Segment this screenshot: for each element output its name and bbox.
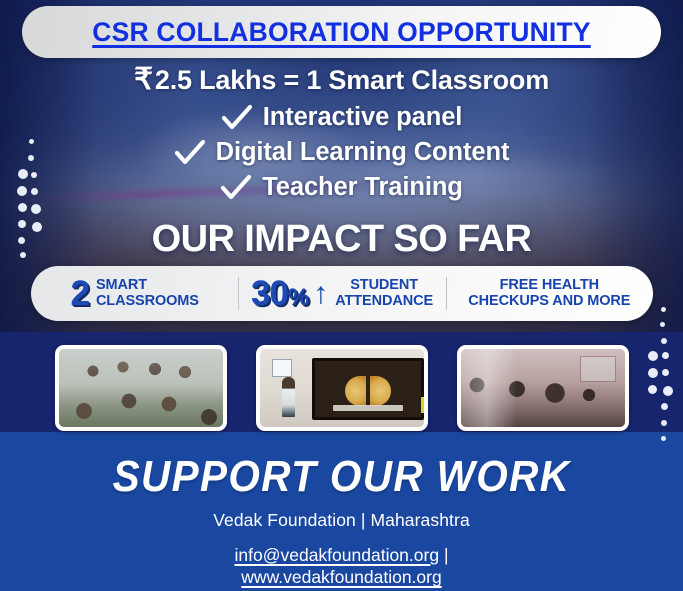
stat-label-line1: FREE HEALTH bbox=[500, 277, 599, 293]
offer-headline-text: 2.5 Lakhs = 1 Smart Classroom bbox=[155, 65, 549, 95]
offer-headline: ₹2.5 Lakhs = 1 Smart Classroom bbox=[0, 62, 683, 97]
photo-smart-board-lesson bbox=[256, 345, 428, 431]
stat-value-number: 30 bbox=[251, 274, 288, 313]
check-icon bbox=[174, 139, 206, 167]
photo-classroom-boys bbox=[55, 345, 227, 431]
pizza-half-left bbox=[345, 376, 366, 406]
decor-dot bbox=[661, 307, 666, 312]
organisation-line: Vedak Foundation | Maharashtra bbox=[0, 510, 683, 531]
stat-free-health-checkups: FREE HEALTH CHECKUPS AND MORE bbox=[446, 266, 653, 321]
impact-title: OUR IMPACT SO FAR bbox=[0, 218, 683, 261]
contact-line: info@vedakfoundation.org | www.vedakfoun… bbox=[0, 544, 683, 589]
stat-label: STUDENT ATTENDANCE bbox=[335, 278, 433, 309]
arrow-up-icon: ↑ bbox=[313, 279, 328, 309]
smart-board bbox=[312, 358, 424, 420]
support-title: SUPPORT OUR WORK bbox=[27, 452, 655, 502]
stat-label-line2: ATTENDANCE bbox=[335, 293, 433, 309]
stat-label: FREE HEALTH CHECKUPS AND MORE bbox=[468, 278, 630, 309]
csr-poster: CSR COLLABORATION OPPORTUNITY ₹2.5 Lakhs… bbox=[0, 0, 683, 591]
bullet-item: Digital Learning Content bbox=[0, 135, 683, 170]
stat-label-line2: CHECKUPS AND MORE bbox=[468, 293, 630, 309]
bullet-label: Interactive panel bbox=[263, 103, 463, 132]
board-caption bbox=[333, 405, 403, 411]
pizza-half-right bbox=[370, 376, 391, 406]
email-link[interactable]: info@vedakfoundation.org bbox=[235, 545, 440, 565]
rupee-icon: ₹ bbox=[134, 63, 153, 96]
stat-label: SMART CLASSROOMS bbox=[96, 278, 199, 309]
photo-classroom-boys-image bbox=[59, 349, 223, 427]
wall-edge bbox=[421, 397, 424, 413]
contact-separator-pipe: | bbox=[444, 545, 449, 565]
decor-dot bbox=[660, 322, 665, 327]
impact-stats-bar: 2 SMART CLASSROOMS 30% ↑ STUDENT ATTENDA… bbox=[31, 266, 653, 321]
bullet-label: Teacher Training bbox=[262, 173, 463, 202]
wall-poster bbox=[272, 359, 292, 377]
decor-dot bbox=[31, 204, 41, 214]
stat-value: 2 bbox=[70, 276, 88, 311]
gallery-photo-strip bbox=[0, 345, 683, 431]
stat-label-line1: STUDENT bbox=[350, 277, 418, 293]
website-link[interactable]: www.vedakfoundation.org bbox=[241, 567, 441, 587]
student-figure bbox=[282, 377, 295, 417]
bullet-item: Interactive panel bbox=[0, 100, 683, 135]
offer-bullet-list: Interactive panel Digital Learning Conte… bbox=[0, 100, 683, 205]
check-icon bbox=[221, 104, 253, 132]
banner-title: CSR COLLABORATION OPPORTUNITY bbox=[92, 17, 591, 48]
percent-sign: % bbox=[288, 284, 308, 311]
stat-label-line1: SMART bbox=[96, 277, 147, 293]
bullet-label: Digital Learning Content bbox=[216, 138, 510, 167]
stat-label-line2: CLASSROOMS bbox=[96, 293, 199, 309]
stat-smart-classrooms: 2 SMART CLASSROOMS bbox=[31, 266, 238, 321]
csr-opportunity-banner[interactable]: CSR COLLABORATION OPPORTUNITY bbox=[22, 6, 661, 58]
bullet-item: Teacher Training bbox=[0, 170, 683, 205]
decor-dot bbox=[661, 436, 666, 441]
decor-dot bbox=[661, 338, 667, 344]
check-icon bbox=[220, 174, 252, 202]
photo-classroom-girls-image bbox=[461, 349, 625, 427]
wall-chart bbox=[580, 356, 616, 382]
stat-student-attendance: 30% ↑ STUDENT ATTENDANCE bbox=[238, 266, 445, 321]
photo-smart-board-lesson-image bbox=[260, 349, 424, 427]
photo-classroom-girls bbox=[457, 345, 629, 431]
stat-value: 30% bbox=[251, 276, 308, 311]
